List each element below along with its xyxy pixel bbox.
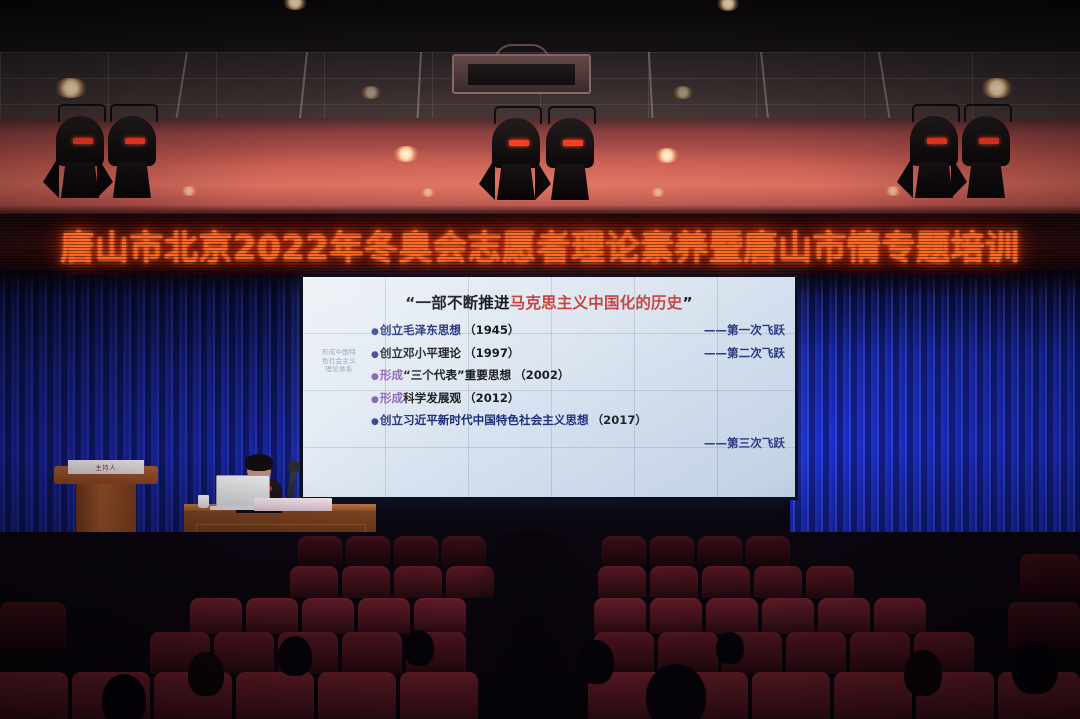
seat (598, 566, 646, 598)
slide-title: “一部不断推进马克思主义中国化的历史” (313, 291, 785, 313)
seat (298, 536, 342, 566)
wall-downlight (420, 188, 436, 197)
seat (342, 566, 390, 598)
bullet-year: （2017） (592, 412, 647, 428)
seat (746, 536, 790, 566)
slide-bullet-row: ● 形成 “三个代表”重要思想 （2002） (371, 367, 785, 383)
wall-downlight (654, 148, 680, 163)
wall-downlight (650, 188, 666, 197)
attendee-silhouette (404, 630, 434, 666)
spotlight-led-indicator (509, 140, 529, 146)
seat (818, 598, 870, 634)
seat (342, 632, 402, 674)
hall-interior: “一部不断推进马克思主义中国化的历史” 形成中国特色社会主义理论体系 ● 创立毛… (0, 270, 1080, 719)
seat (834, 672, 912, 719)
seat (650, 536, 694, 566)
seat (400, 672, 478, 719)
seat (290, 566, 338, 598)
slide-bullet-row: ● 形成 科学发展观 （2012） (371, 390, 785, 406)
bullet-year: （2002） (514, 367, 569, 383)
ceiling-downlight (360, 86, 382, 99)
spotlight-body (492, 118, 540, 168)
seat (414, 598, 466, 634)
seat (602, 536, 646, 566)
auditorium-photo: 唐山市北京2022年冬奥会志愿者理论素养暨唐山市情专题培训 “一部不断推进马克思… (0, 0, 1080, 719)
spotlight-led-indicator (73, 138, 93, 144)
bullet-dot-icon: ● (371, 396, 379, 405)
desk-nameplate (254, 498, 332, 511)
podium-nameplate: 主持人 (68, 460, 144, 474)
slide-final-leap-note: ——第三次飞跃 (371, 435, 785, 451)
ceiling-downlight (980, 78, 1014, 98)
bullet-dot-icon: ● (371, 373, 379, 382)
seat (594, 598, 646, 634)
seat (1008, 602, 1080, 650)
spotlight-barndoor (967, 162, 1005, 198)
bullet-year: （1945） (464, 322, 519, 338)
ceiling-downlight (672, 86, 694, 99)
presentation-slide: “一部不断推进马克思主义中国化的历史” 形成中国特色社会主义理论体系 ● 创立毛… (303, 277, 795, 497)
seat (650, 598, 702, 634)
seat (236, 672, 314, 719)
slide-title-highlight: 马克思主义中国化的历史 (510, 294, 683, 312)
attendee-silhouette (278, 636, 312, 676)
seat (346, 536, 390, 566)
seat (786, 632, 846, 674)
bullet-year: （2012） (464, 390, 519, 406)
seat (806, 566, 854, 598)
seat (318, 672, 396, 719)
seat (698, 536, 742, 566)
seat (302, 598, 354, 634)
slide-body: 形成中国特色社会主义理论体系 ● 创立毛泽东思想 （1945） ——第一次飞跃 … (313, 322, 785, 451)
air-vent (452, 54, 591, 94)
spotlight-barndoor (915, 162, 953, 198)
attendee-silhouette (904, 650, 942, 696)
spotlight-body (56, 116, 104, 166)
bullet-leap-note: ——第一次飞跃 (692, 322, 785, 338)
wall-downlight (884, 186, 902, 196)
wall-downlight (180, 186, 198, 196)
seat (358, 598, 410, 634)
spotlight-led-indicator (927, 138, 947, 144)
spotlight-barndoor (113, 162, 151, 198)
bullet-text: 科学发展观 (403, 390, 461, 406)
slide-title-close: ” (682, 294, 692, 312)
spotlight-led-indicator (125, 138, 145, 144)
spotlight-body (108, 116, 156, 166)
spotlight-barndoor (61, 162, 99, 198)
seat (752, 672, 830, 719)
spotlight-barndoor (551, 164, 589, 200)
slide-bullet-row: ● 创立习近平新时代中国特色社会主义思想 （2017） (371, 412, 785, 428)
bullet-dot-icon: ● (371, 328, 379, 337)
seat (650, 566, 698, 598)
slide-title-plain: “一部不断推进 (405, 294, 510, 312)
wall-downlight (392, 146, 420, 162)
seat (874, 598, 926, 634)
bullet-dot-icon: ● (371, 418, 379, 427)
projection-screen-frame: “一部不断推进马克思主义中国化的历史” 形成中国特色社会主义理论体系 ● 创立毛… (300, 274, 798, 500)
attendee-silhouette (716, 632, 744, 664)
ceiling-upper-dark (0, 0, 1080, 52)
spotlight-body (910, 116, 958, 166)
bullet-text-prefix: 形成 (380, 390, 403, 406)
seat (246, 598, 298, 634)
bullet-text-prefix: 形成 (380, 367, 403, 383)
attendee-silhouette (1012, 642, 1058, 694)
seat (0, 672, 68, 719)
bullet-dot-icon: ● (371, 351, 379, 360)
spotlight-body (546, 118, 594, 168)
seat (850, 632, 910, 674)
water-cup (198, 495, 209, 508)
bullet-text: 创立习近平新时代中国特色社会主义思想 (380, 412, 589, 428)
slide-side-label: 形成中国特色社会主义理论体系 (321, 348, 357, 374)
seat (762, 598, 814, 634)
seat (754, 566, 802, 598)
attendee-silhouette (102, 674, 146, 719)
projection-screen: “一部不断推进马克思主义中国化的历史” 形成中国特色社会主义理论体系 ● 创立毛… (303, 277, 795, 497)
bullet-text: “三个代表”重要思想 (403, 367, 511, 383)
spotlight-led-indicator (563, 140, 583, 146)
spotlight-body (962, 116, 1010, 166)
audience-area (0, 532, 1080, 719)
seat (394, 536, 438, 566)
seat (0, 602, 66, 650)
center-aisle (470, 532, 600, 719)
spotlight-barndoor (497, 164, 535, 200)
attendee-silhouette (188, 652, 224, 696)
ceiling (0, 0, 1080, 120)
bullet-text: 创立毛泽东思想 (380, 322, 461, 338)
seat (706, 598, 758, 634)
bullet-text: 创立邓小平理论 (380, 345, 461, 361)
seat (1020, 554, 1080, 598)
led-banner: 唐山市北京2022年冬奥会志愿者理论素养暨唐山市情专题培训 (0, 214, 1080, 276)
led-banner-text: 唐山市北京2022年冬奥会志愿者理论素养暨唐山市情专题培训 (0, 221, 1080, 270)
seat (702, 566, 750, 598)
podium-top: 主持人 (54, 466, 158, 484)
ceiling-downlight (54, 78, 88, 98)
attendee-silhouette (646, 664, 706, 719)
spotlight-led-indicator (979, 138, 999, 144)
speaker-hair (245, 454, 273, 471)
bullet-year: （1997） (464, 345, 519, 361)
seat (394, 566, 442, 598)
slide-bullet-row: ● 创立邓小平理论 （1997） ——第二次飞跃 (371, 345, 785, 361)
seat (190, 598, 242, 634)
slide-bullet-row: ● 创立毛泽东思想 （1945） ——第一次飞跃 (371, 322, 785, 338)
bullet-leap-note: ——第二次飞跃 (692, 345, 785, 361)
